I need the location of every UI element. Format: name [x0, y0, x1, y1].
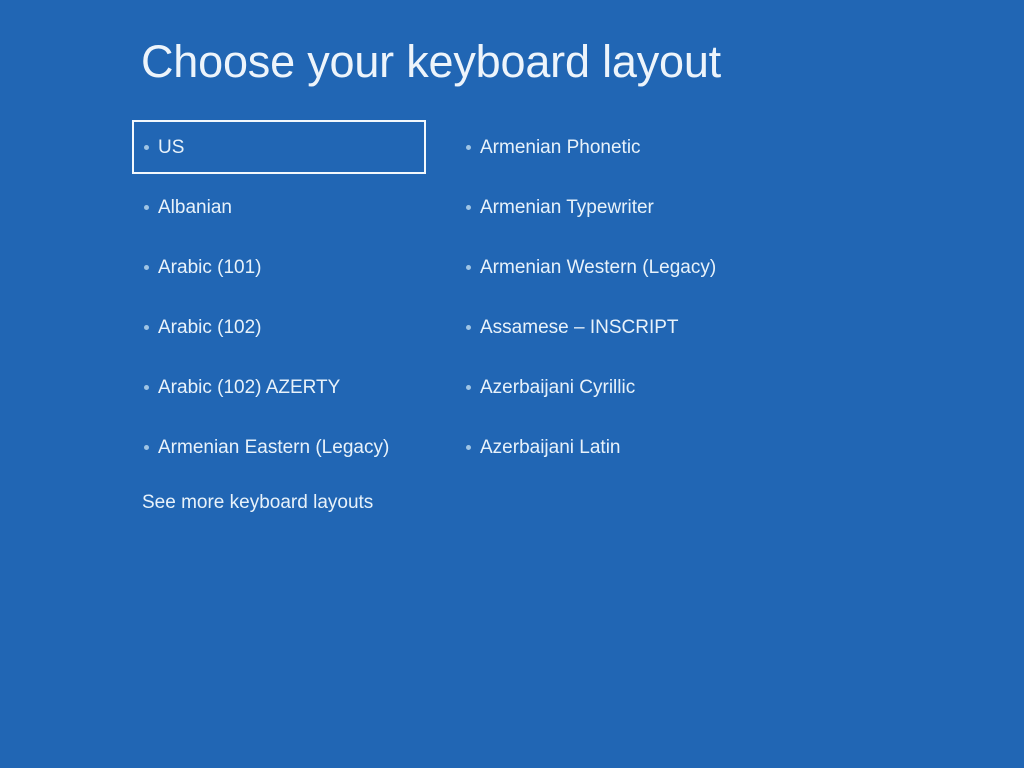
keyboard-layout-item-label: Armenian Typewriter: [480, 198, 654, 217]
bullet-dot-icon: [144, 265, 149, 270]
keyboard-layout-item-label: Armenian Western (Legacy): [480, 258, 716, 277]
keyboard-layout-item[interactable]: Armenian Phonetic: [464, 120, 784, 174]
see-more-keyboard-layouts-link[interactable]: See more keyboard layouts: [142, 493, 373, 512]
bullet-dot-icon: [144, 385, 149, 390]
keyboard-layout-item-label: US: [158, 138, 184, 157]
keyboard-layout-item-label: Arabic (102): [158, 318, 262, 337]
bullet-dot-icon: [144, 145, 149, 150]
keyboard-layout-item[interactable]: Arabic (102) AZERTY: [132, 360, 432, 414]
bullet-dot-icon: [466, 205, 471, 210]
keyboard-layout-item-label: Arabic (102) AZERTY: [158, 378, 340, 397]
keyboard-layout-item-label: Armenian Phonetic: [480, 138, 641, 157]
keyboard-layout-item[interactable]: Azerbaijani Latin: [464, 420, 784, 474]
keyboard-layout-item-label: Azerbaijani Cyrillic: [480, 378, 635, 397]
keyboard-layout-item[interactable]: Arabic (102): [132, 300, 432, 354]
keyboard-layout-item-label: Albanian: [158, 198, 232, 217]
keyboard-layout-item[interactable]: Arabic (101): [132, 240, 432, 294]
keyboard-layout-item[interactable]: Albanian: [132, 180, 432, 234]
bullet-dot-icon: [144, 325, 149, 330]
keyboard-layout-item-label: Assamese – INSCRIPT: [480, 318, 679, 337]
bullet-dot-icon: [144, 205, 149, 210]
keyboard-layout-item-label: Azerbaijani Latin: [480, 438, 620, 457]
page-title: Choose your keyboard layout: [141, 38, 721, 85]
bullet-dot-icon: [144, 445, 149, 450]
keyboard-layout-item[interactable]: Assamese – INSCRIPT: [464, 300, 784, 354]
keyboard-layout-item-label: Armenian Eastern (Legacy): [158, 438, 389, 457]
keyboard-layout-column-left: USAlbanianArabic (101)Arabic (102)Arabic…: [132, 120, 432, 480]
keyboard-layout-column-right: Armenian PhoneticArmenian TypewriterArme…: [464, 120, 784, 480]
keyboard-layout-item-label: Arabic (101): [158, 258, 262, 277]
keyboard-layout-item[interactable]: Azerbaijani Cyrillic: [464, 360, 784, 414]
keyboard-layout-item[interactable]: Armenian Western (Legacy): [464, 240, 784, 294]
keyboard-layout-item[interactable]: US: [132, 120, 426, 174]
bullet-dot-icon: [466, 385, 471, 390]
keyboard-layout-item[interactable]: Armenian Eastern (Legacy): [132, 420, 432, 474]
bullet-dot-icon: [466, 265, 471, 270]
keyboard-layout-item[interactable]: Armenian Typewriter: [464, 180, 784, 234]
keyboard-layout-screen: Choose your keyboard layout USAlbanianAr…: [0, 0, 1024, 768]
bullet-dot-icon: [466, 445, 471, 450]
bullet-dot-icon: [466, 145, 471, 150]
bullet-dot-icon: [466, 325, 471, 330]
